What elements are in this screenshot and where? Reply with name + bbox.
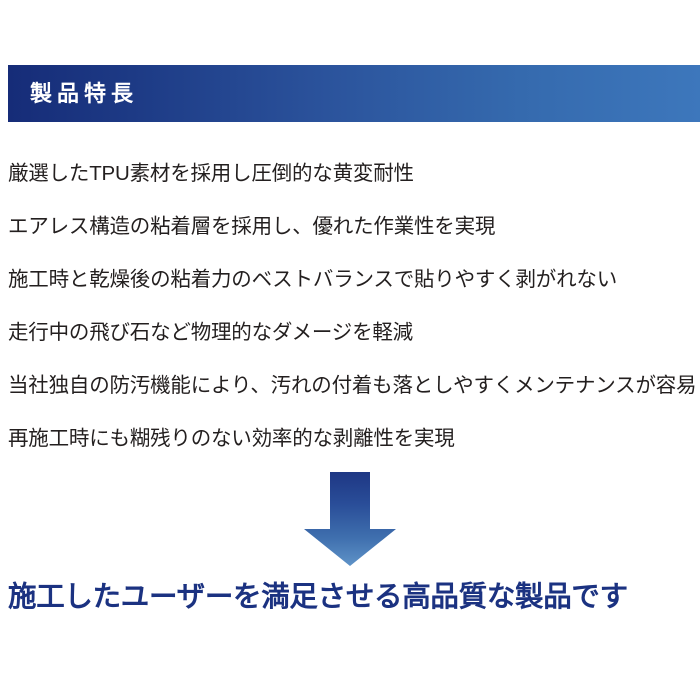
feature-item: 再施工時にも糊残りのない効率的な剥離性を実現 <box>8 413 698 466</box>
product-features-page: 製品特長 厳選したTPU素材を採用し圧倒的な黄変耐性 エアレス構造の粘着層を採用… <box>0 0 700 700</box>
section-header-bar: 製品特長 <box>8 65 700 122</box>
feature-item: 施工時と乾燥後の粘着力のベストバランスで貼りやすく剥がれない <box>8 254 698 307</box>
page-title: 製品特長 <box>30 83 138 105</box>
feature-item: 走行中の飛び石など物理的なダメージを軽減 <box>8 307 698 360</box>
feature-item: 当社独自の防汚機能により、汚れの付着も落としやすくメンテナンスが容易 <box>8 360 698 413</box>
feature-item: 厳選したTPU素材を採用し圧倒的な黄変耐性 <box>8 148 698 201</box>
arrow-down-icon <box>303 471 397 567</box>
feature-item: エアレス構造の粘着層を採用し、優れた作業性を実現 <box>8 201 698 254</box>
feature-list: 厳選したTPU素材を採用し圧倒的な黄変耐性 エアレス構造の粘着層を採用し、優れた… <box>8 148 698 466</box>
conclusion-headline: 施工したユーザーを満足させる高品質な製品です <box>8 583 700 612</box>
